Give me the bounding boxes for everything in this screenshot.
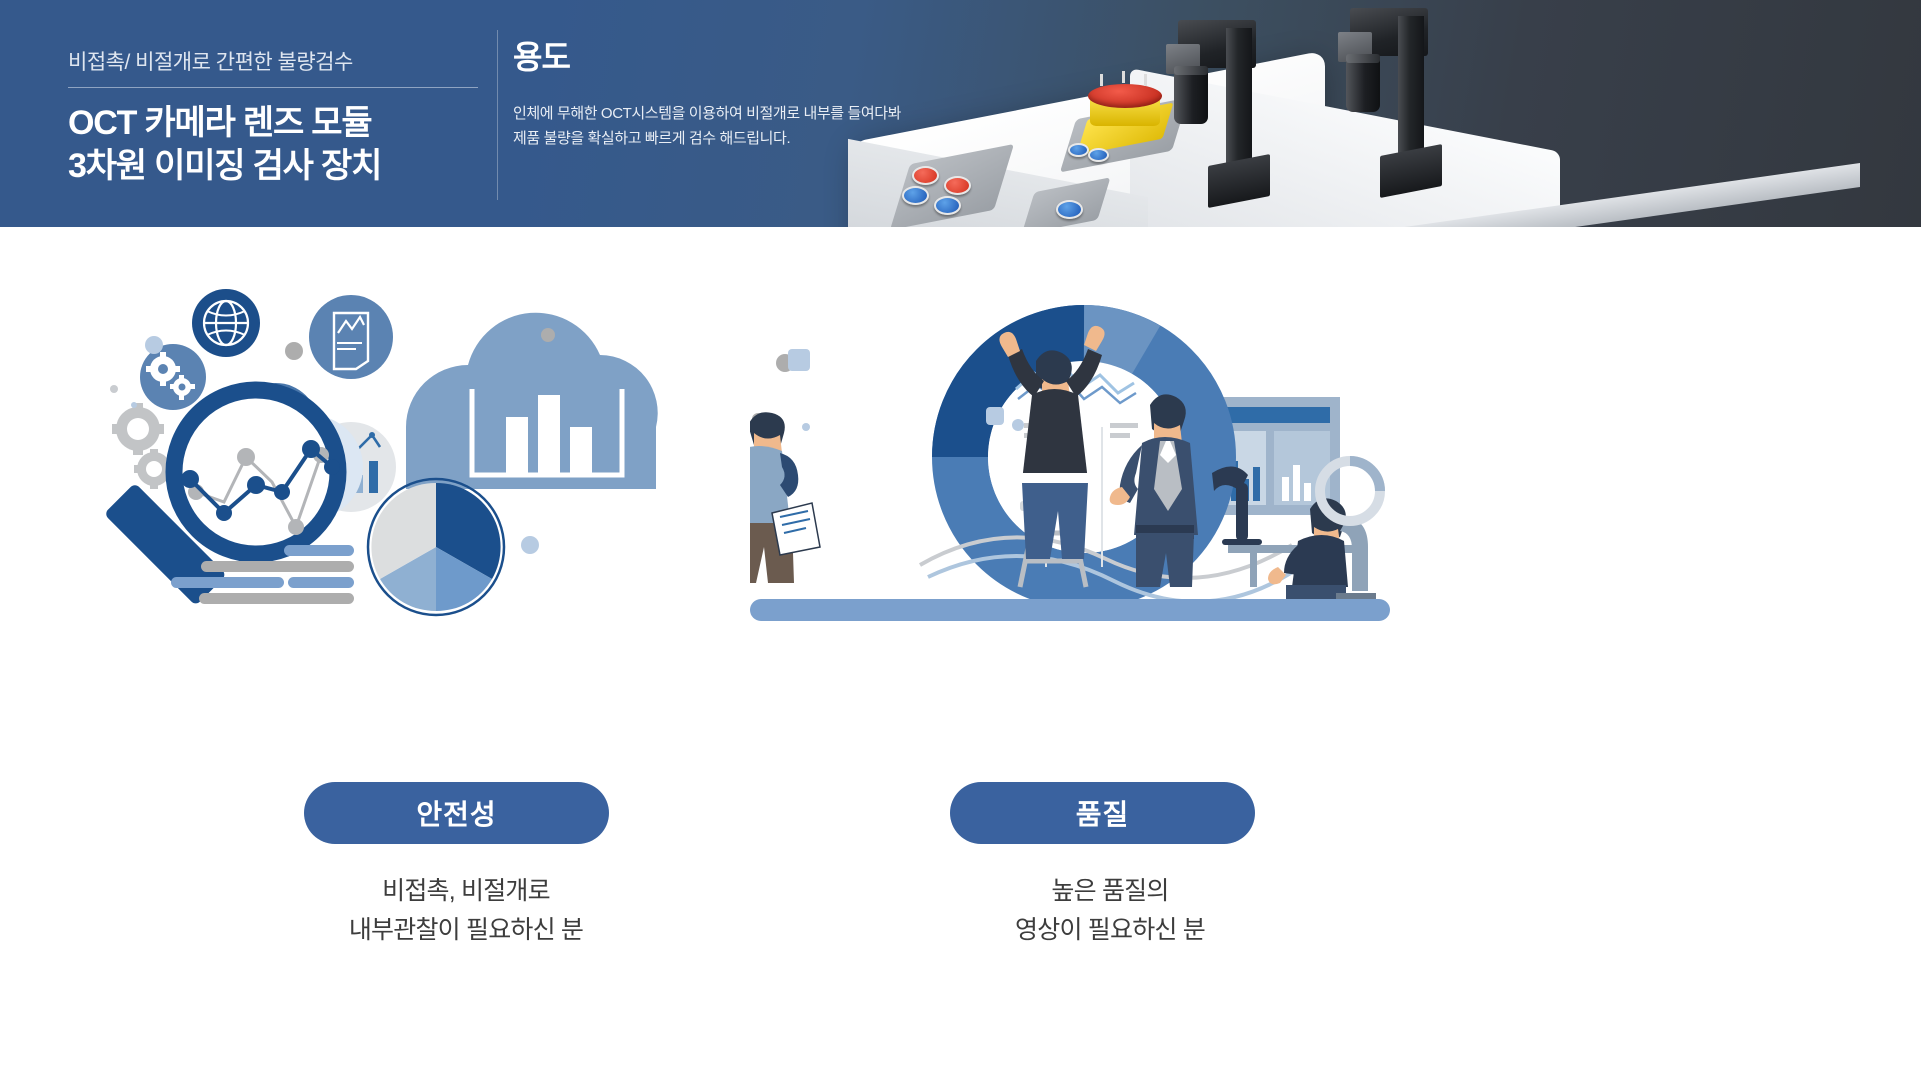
illustration-team-analytics	[750, 277, 1470, 627]
page-title-line1: OCT 카메라 렌즈 모듈	[68, 102, 488, 145]
magnifier-icon	[174, 390, 338, 554]
badge-safety-label: 안전성	[416, 793, 496, 833]
estop-pin-mid	[1122, 71, 1125, 83]
globe-icon	[192, 289, 260, 357]
person-with-document	[750, 412, 820, 583]
gears-icon-blue	[140, 344, 206, 410]
main-content: 안전성 비접촉, 비절개로 내부관찰이 필요하신 분	[0, 227, 1921, 1081]
inspection-machine-image	[830, 0, 1921, 227]
header-title-block: 비접촉/ 비절개로 간편한 불량검수 OCT 카메라 렌즈 모듈 3차원 이미징…	[68, 46, 488, 188]
control-button-blue-3[interactable]	[1056, 200, 1083, 219]
control-button-red-2[interactable]	[944, 176, 971, 195]
control-button-blue-2[interactable]	[934, 196, 961, 215]
pie-chart-large	[368, 479, 504, 615]
indicator-light-2[interactable]	[1088, 148, 1109, 162]
header-kicker: 비접촉/ 비절개로 간편한 불량검수	[68, 46, 488, 87]
emergency-stop-button	[1088, 84, 1162, 108]
illustration-data-analysis	[106, 277, 826, 627]
header-divider-rule	[68, 87, 478, 88]
header-vertical-divider	[497, 30, 498, 200]
caption-safety: 비접촉, 비절개로 내부관찰이 필요하신 분	[106, 872, 826, 950]
badge-quality[interactable]: 품질	[950, 782, 1255, 844]
gears-icon-gray	[112, 403, 174, 489]
estop-pin-right	[1144, 74, 1147, 86]
decorative-dot-right	[521, 536, 539, 554]
caption-quality: 높은 품질의 영상이 필요하신 분	[750, 872, 1470, 950]
badge-quality-label: 품질	[1076, 793, 1130, 833]
page-title-line2: 3차원 이미징 검사 장치	[68, 145, 488, 188]
indicator-light-1[interactable]	[1068, 143, 1089, 157]
feature-card-quality: 품질 높은 품질의 영상이 필요하신 분	[750, 227, 1470, 1081]
caption-safety-line1: 비접촉, 비절개로	[106, 872, 826, 911]
feature-cards: 안전성 비접촉, 비절개로 내부관찰이 필요하신 분	[0, 227, 1921, 1081]
caption-quality-line2: 영상이 필요하신 분	[750, 911, 1470, 950]
page-title: OCT 카메라 렌즈 모듈 3차원 이미징 검사 장치	[68, 102, 488, 188]
caption-safety-line2: 내부관찰이 필요하신 분	[106, 911, 826, 950]
header-banner: 비접촉/ 비절개로 간편한 불량검수 OCT 카메라 렌즈 모듈 3차원 이미징…	[0, 0, 1921, 227]
estop-pin-left	[1100, 74, 1103, 86]
feature-card-safety: 안전성 비접촉, 비절개로 내부관찰이 필요하신 분	[106, 227, 826, 1081]
document-chart-icon	[309, 295, 393, 379]
control-button-blue-1[interactable]	[902, 186, 929, 205]
ground-bar	[750, 599, 1390, 621]
badge-safety[interactable]: 안전성	[304, 782, 609, 844]
caption-quality-line1: 높은 품질의	[750, 872, 1470, 911]
control-button-red-1[interactable]	[912, 166, 939, 185]
